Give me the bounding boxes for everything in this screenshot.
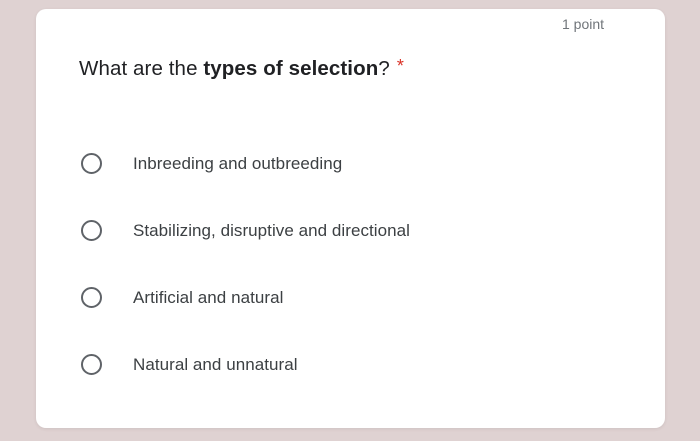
question-title: What are the types of selection?: [79, 55, 390, 82]
question-text-prefix: What are the: [79, 57, 203, 80]
question-header: What are the types of selection? *: [79, 55, 647, 82]
option-label: Artificial and natural: [133, 286, 283, 310]
radio-button-icon[interactable]: [81, 354, 102, 375]
option-label: Stabilizing, disruptive and directional: [133, 219, 410, 243]
option-row[interactable]: Natural and unnatural: [79, 331, 647, 398]
question-text-bold: types of selection: [203, 57, 378, 80]
points-label: 1 point: [562, 14, 604, 34]
option-row[interactable]: Inbreeding and outbreeding: [79, 130, 647, 197]
options-list: Inbreeding and outbreeding Stabilizing, …: [79, 130, 647, 398]
question-text-suffix: ?: [378, 57, 390, 80]
quiz-question-page: What are the types of selection? * 1 poi…: [0, 0, 700, 441]
option-row[interactable]: Artificial and natural: [79, 264, 647, 331]
radio-button-icon[interactable]: [81, 153, 102, 174]
option-row[interactable]: Stabilizing, disruptive and directional: [79, 197, 647, 264]
required-asterisk-icon: *: [397, 53, 404, 80]
radio-button-icon[interactable]: [81, 287, 102, 308]
radio-button-icon[interactable]: [81, 220, 102, 241]
question-card: What are the types of selection? * 1 poi…: [36, 9, 665, 428]
option-label: Inbreeding and outbreeding: [133, 152, 342, 176]
option-label: Natural and unnatural: [133, 353, 298, 377]
